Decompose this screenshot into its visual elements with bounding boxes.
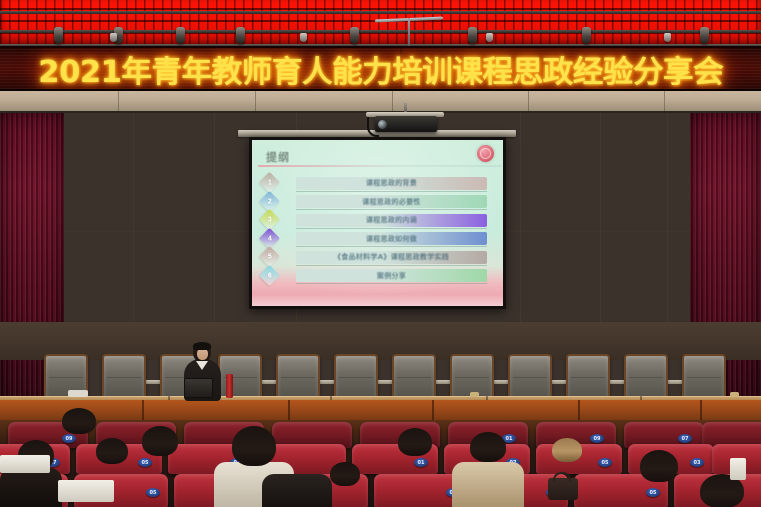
slide-outline-item: 2课程思政的必要性 bbox=[296, 194, 487, 210]
audience-attendee-head bbox=[232, 426, 276, 466]
spotlight-icon bbox=[350, 27, 359, 44]
audience-handbag bbox=[548, 478, 578, 500]
slide-outline-item: 6案例分享 bbox=[296, 268, 487, 284]
audience-white-item bbox=[0, 455, 50, 473]
outline-item-label: 课程思政的内涵 bbox=[366, 215, 417, 225]
spotlight-icon bbox=[236, 27, 245, 44]
audience-attendee-head bbox=[640, 450, 678, 482]
outline-number-badge: 3 bbox=[259, 209, 280, 230]
stage-chair bbox=[102, 354, 146, 400]
slide-outline-item: 5《食品材料学A》课程思政教学实践 bbox=[296, 249, 487, 265]
audience-attendee-head bbox=[96, 438, 128, 464]
outline-number: 4 bbox=[268, 235, 272, 242]
stage-chair bbox=[566, 354, 610, 400]
seating-front-rail bbox=[0, 400, 761, 420]
audience-handheld-paper bbox=[730, 458, 746, 480]
outline-number: 1 bbox=[268, 179, 272, 186]
outline-number: 2 bbox=[268, 198, 272, 205]
desk-paper bbox=[68, 390, 88, 397]
open-laptop bbox=[184, 378, 213, 398]
audience-attendee-shoulders bbox=[262, 474, 332, 507]
slide-outline-item: 1课程思政的背景 bbox=[296, 175, 487, 191]
outline-number: 5 bbox=[268, 253, 272, 260]
downlight-icon bbox=[486, 33, 493, 42]
seat-number-plate: 09 bbox=[62, 434, 76, 443]
screenshot-root: 2021年青年教师育人能力培训课程思政经验分享会 提 bbox=[0, 0, 761, 507]
audience-attendee-head bbox=[398, 428, 432, 456]
slide-divider bbox=[258, 165, 502, 167]
spotlight-icon bbox=[468, 27, 477, 44]
presenter-hair bbox=[193, 342, 211, 350]
outline-item-bar: 课程思政的背景 bbox=[296, 177, 487, 190]
hanging-mic-pole bbox=[408, 18, 410, 48]
spotlight-icon bbox=[700, 27, 709, 44]
slide-title: 提纲 bbox=[266, 149, 290, 165]
presentation-slide: 提纲 1课程思政的背景2课程思政的必要性3课程思政的内涵4课程思政如何做5《食品… bbox=[252, 140, 503, 306]
seat-number-plate: 05 bbox=[138, 458, 152, 467]
projector-lens-icon bbox=[378, 120, 387, 129]
outline-item-bar: 《食品材料学A》课程思政教学实践 bbox=[296, 251, 487, 264]
audience-attendee-head bbox=[552, 438, 582, 462]
stage-chair bbox=[624, 354, 668, 400]
audience-attendee-head bbox=[330, 462, 360, 486]
outline-item-label: 课程思政如何做 bbox=[366, 234, 417, 244]
seat-number-plate: 01 bbox=[414, 458, 428, 467]
spotlight-icon bbox=[176, 27, 185, 44]
outline-item-label: 案例分享 bbox=[377, 271, 406, 281]
university-emblem-icon bbox=[477, 145, 494, 162]
audience-attendee-head bbox=[470, 432, 506, 462]
outline-item-label: 《食品材料学A》课程思政教学实践 bbox=[334, 252, 449, 262]
outline-number: 6 bbox=[268, 272, 272, 279]
outline-number-badge: 5 bbox=[259, 246, 280, 267]
audience-attendee-head bbox=[142, 426, 178, 456]
seat-number-plate: 07 bbox=[678, 434, 692, 443]
stage-chair-row bbox=[0, 352, 761, 400]
slide-outline-item: 3课程思政的内涵 bbox=[296, 212, 487, 228]
downlight-icon bbox=[664, 33, 671, 42]
outline-number-badge: 6 bbox=[259, 264, 280, 285]
seat-number-plate: 09 bbox=[590, 434, 604, 443]
desk-nameplate bbox=[730, 392, 739, 397]
event-banner: 2021年青年教师育人能力培训课程思政经验分享会 bbox=[0, 46, 761, 91]
outline-item-bar: 课程思政的必要性 bbox=[296, 195, 487, 208]
outline-item-label: 课程思政的必要性 bbox=[362, 197, 420, 207]
spotlight-icon bbox=[582, 27, 591, 44]
outline-item-bar: 案例分享 bbox=[296, 269, 487, 282]
audience-white-item bbox=[58, 480, 114, 502]
spotlight-icon bbox=[54, 27, 63, 44]
seat-number-plate: 03 bbox=[690, 458, 704, 467]
seat-number-plate: 05 bbox=[598, 458, 612, 467]
stage-chair bbox=[276, 354, 320, 400]
downlight-icon bbox=[300, 33, 307, 42]
audience-seating-area: 0907050301090707050301070503070503010705 bbox=[0, 400, 761, 507]
downlight-icon bbox=[110, 33, 117, 42]
outline-item-bar: 课程思政如何做 bbox=[296, 232, 487, 245]
seat-number-plate: 05 bbox=[146, 488, 160, 497]
ceiling-rail bbox=[0, 11, 761, 14]
ceiling-led-panel bbox=[0, 0, 761, 46]
stage-chair bbox=[508, 354, 552, 400]
slide-outline-list: 1课程思政的背景2课程思政的必要性3课程思政的内涵4课程思政如何做5《食品材料学… bbox=[252, 173, 503, 286]
stage-chair bbox=[334, 354, 378, 400]
projection-screen: 提纲 1课程思政的背景2课程思政的必要性3课程思政的内涵4课程思政如何做5《食品… bbox=[249, 137, 506, 309]
outline-number: 3 bbox=[268, 216, 272, 223]
stage-chair bbox=[682, 354, 726, 400]
banner-title: 2021年青年教师育人能力培训课程思政经验分享会 bbox=[38, 47, 723, 91]
outline-item-label: 课程思政的背景 bbox=[366, 178, 417, 188]
audience-attendee-shoulders bbox=[0, 468, 62, 507]
slide-outline-item: 4课程思政如何做 bbox=[296, 231, 487, 247]
ceiling-soffit bbox=[0, 91, 761, 113]
audience-attendee-head bbox=[62, 408, 96, 434]
desk-nameplate bbox=[470, 392, 479, 397]
seat-number-plate: 05 bbox=[646, 488, 660, 497]
red-thermos bbox=[226, 374, 233, 398]
stage-chair bbox=[392, 354, 436, 400]
outline-item-bar: 课程思政的内涵 bbox=[296, 214, 487, 227]
audience-attendee-shoulders bbox=[452, 462, 524, 507]
